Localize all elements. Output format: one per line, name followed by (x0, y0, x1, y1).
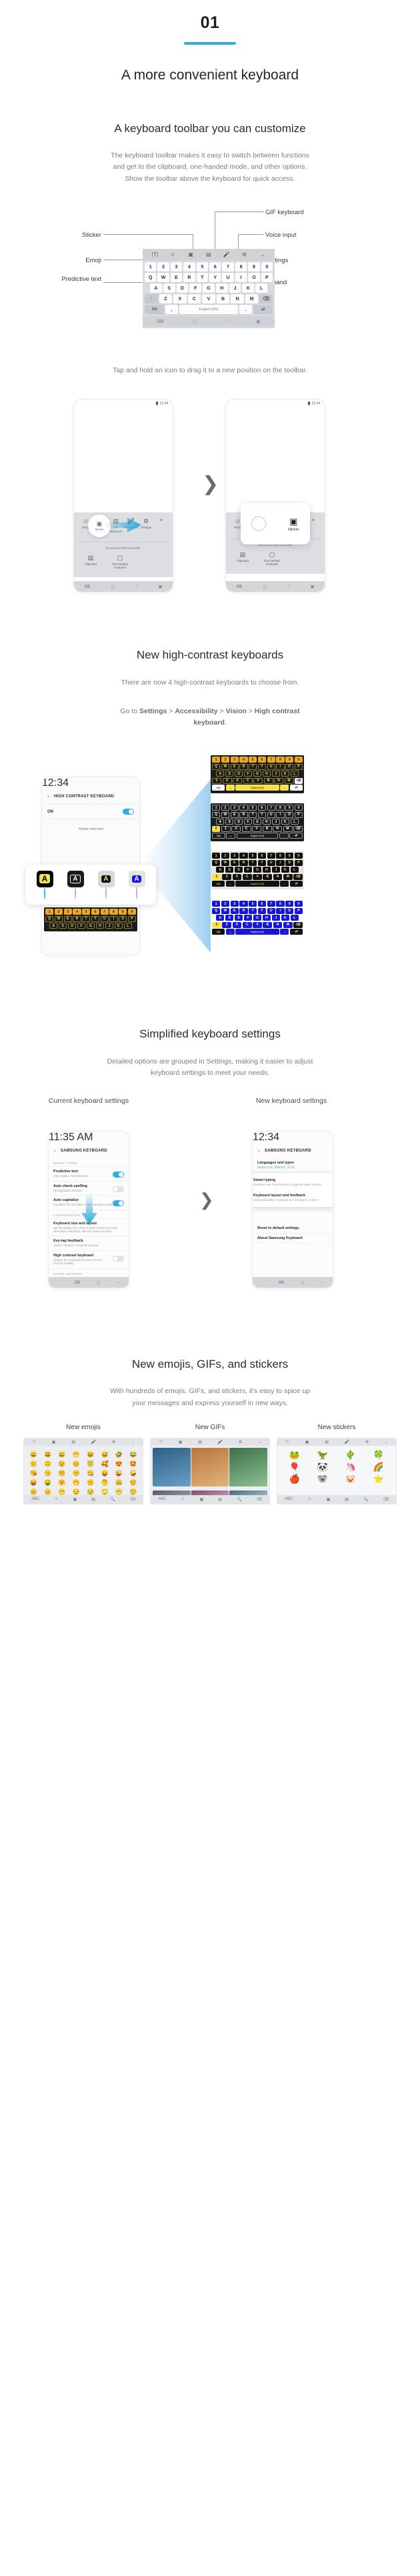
key[interactable]: B (263, 922, 272, 928)
period-key[interactable]: . (280, 785, 289, 791)
key[interactable]: 2 (221, 901, 229, 907)
key[interactable]: E (171, 273, 182, 282)
key[interactable]: 0 (295, 901, 303, 907)
emoji-cell[interactable]: 😂 (127, 1450, 140, 1459)
setting-row-high-contrast-keyboard[interactable]: High contrast keyboard Change the keyboa… (49, 1251, 129, 1269)
sticker-icon[interactable]: ▣ (305, 1440, 309, 1444)
abc-key[interactable]: ABC (285, 1497, 293, 1501)
back-icon[interactable]: ← (117, 1280, 121, 1284)
key[interactable]: G (253, 819, 261, 825)
key[interactable]: K (281, 915, 289, 921)
key[interactable]: W (221, 764, 229, 770)
key[interactable]: 9 (285, 853, 293, 859)
key[interactable]: 4 (73, 909, 81, 915)
high-contrast-toggle[interactable] (123, 809, 134, 815)
emoji-cell[interactable]: 😜 (112, 1469, 125, 1478)
emoji-cell[interactable]: 🤩 (127, 1460, 140, 1468)
setting-row-predictive-text[interactable]: Predictive text Auto replace, Text short… (49, 1167, 129, 1181)
space-key[interactable]: English (US) (235, 929, 279, 935)
key[interactable]: 9 (119, 909, 127, 915)
backspace-icon[interactable]: ⌫ (256, 1497, 261, 1502)
emoji-cell[interactable]: 🤨 (127, 1478, 140, 1487)
key[interactable]: S (163, 284, 175, 293)
key[interactable]: Z (222, 922, 231, 928)
swatch-white-on-blue[interactable]: A (129, 871, 145, 899)
key[interactable]: 9 (285, 805, 293, 811)
key[interactable]: T (249, 812, 257, 818)
home-icon[interactable]: ▢ (263, 584, 267, 589)
swatch-radio[interactable] (44, 887, 45, 899)
key[interactable]: Z (223, 778, 232, 784)
symbols-key[interactable]: !#1 (212, 785, 225, 791)
voice-input-icon[interactable]: 🎤 (222, 250, 231, 259)
key[interactable]: R (183, 273, 195, 282)
symbols-key[interactable]: !#1 (212, 833, 225, 839)
key[interactable]: I (276, 860, 284, 866)
predictive-text-icon[interactable]: (T) (151, 250, 159, 259)
setting-row-about-samsung-keyboard[interactable]: About Samsung Keyboard (253, 1234, 333, 1244)
space-key[interactable]: English (US) (237, 833, 279, 839)
expand-icon[interactable]: ⌄ (258, 1440, 261, 1444)
key[interactable]: L (291, 915, 299, 921)
setting-toggle[interactable] (113, 1256, 124, 1262)
key[interactable]: F (189, 284, 201, 293)
emoji-tab-icon[interactable]: ☺ (54, 1497, 58, 1501)
key[interactable]: 9 (285, 901, 293, 907)
key[interactable]: A (216, 867, 224, 873)
key[interactable]: T (82, 916, 90, 922)
key[interactable]: O (285, 908, 293, 914)
key[interactable]: I (276, 908, 284, 914)
key[interactable]: K (115, 923, 123, 929)
space-key[interactable]: English (US) (179, 305, 238, 314)
emoji-grid[interactable]: 😀 😃 😄 😁 😆 😅 🤣 😂 🙂 🙃 😉 😊 😇 🥰 😍 🤩 (24, 1446, 143, 1501)
key[interactable]: 4 (239, 757, 247, 763)
key[interactable]: S (225, 867, 233, 873)
key[interactable]: H (216, 284, 228, 293)
emoji-icon[interactable]: ☺ (285, 1440, 289, 1444)
period-key[interactable]: . (280, 929, 289, 935)
key[interactable]: E (231, 764, 239, 770)
key[interactable]: 5 (249, 757, 257, 763)
home-icon[interactable]: ▢ (111, 584, 115, 589)
sticker-cell[interactable]: 🐼 (309, 1462, 336, 1472)
tray-item-one-handed[interactable]: ▢ One-handed keyboard (110, 554, 130, 569)
key[interactable]: 7 (101, 909, 109, 915)
key[interactable]: Y (258, 764, 266, 770)
key[interactable]: 6 (258, 805, 266, 811)
key[interactable]: 6 (258, 757, 266, 763)
key[interactable]: J (105, 923, 113, 929)
toolbar-item-collapse[interactable]: ^ (153, 517, 169, 525)
sticker-tab-icon[interactable]: ▣ (200, 1497, 204, 1502)
key[interactable]: X (233, 922, 242, 928)
key[interactable]: 9 (285, 757, 293, 763)
key[interactable]: 7 (267, 757, 275, 763)
key[interactable]: N (274, 778, 283, 784)
key[interactable]: U (267, 764, 275, 770)
key[interactable]: J (272, 819, 280, 825)
gif-tab-icon[interactable]: ▤ (218, 1497, 222, 1502)
gif-icon[interactable]: ▤ (325, 1440, 329, 1444)
gif-tab-icon[interactable]: ▤ (91, 1497, 95, 1502)
key[interactable]: C (242, 826, 251, 832)
key[interactable]: T (249, 860, 257, 866)
shift-key[interactable]: ⇧ (145, 294, 158, 304)
key[interactable]: P (128, 916, 136, 922)
key[interactable]: 1 (212, 853, 220, 859)
key[interactable]: L (255, 284, 267, 293)
symbols-key[interactable]: !#1 (145, 305, 164, 314)
key[interactable]: 0 (261, 262, 273, 272)
enter-key[interactable]: ⏎ (290, 929, 303, 935)
key[interactable]: C (243, 922, 252, 928)
key[interactable]: F (244, 915, 252, 921)
emoji-cell[interactable]: 🤣 (112, 1450, 125, 1459)
emoji-cell[interactable]: 🤫 (84, 1478, 97, 1487)
emoji-icon[interactable]: ☺ (169, 250, 177, 259)
key[interactable]: 2 (157, 262, 169, 272)
key[interactable]: H (263, 867, 271, 873)
key[interactable]: K (281, 771, 289, 777)
period-key[interactable]: . (280, 881, 289, 887)
abc-key[interactable]: ABC (31, 1497, 39, 1501)
key[interactable]: K (281, 867, 289, 873)
emoji-cell[interactable]: 😃 (41, 1450, 54, 1459)
key[interactable]: F (244, 867, 252, 873)
emoji-cell[interactable]: 😋 (84, 1469, 97, 1478)
key[interactable]: U (267, 860, 275, 866)
key[interactable]: J (272, 915, 280, 921)
key[interactable]: 7 (222, 262, 233, 272)
key[interactable]: 8 (276, 805, 284, 811)
key[interactable]: Q (212, 812, 220, 818)
key[interactable]: A (216, 819, 224, 825)
key[interactable]: P (295, 812, 303, 818)
comma-key[interactable]: , (226, 929, 235, 935)
key[interactable]: O (285, 812, 293, 818)
key[interactable]: Z (159, 294, 173, 304)
key[interactable]: M (283, 922, 293, 928)
sticker-cell[interactable]: 🍀 (365, 1450, 392, 1460)
recents-icon[interactable]: ▣ (311, 584, 315, 589)
key[interactable]: P (295, 908, 303, 914)
key[interactable]: G (203, 284, 215, 293)
sticker-cell[interactable]: 🦄 (337, 1462, 364, 1472)
key[interactable]: O (285, 764, 293, 770)
emoji-cell[interactable]: 😉 (55, 1460, 69, 1468)
emoji-tab-icon[interactable]: ☺ (307, 1497, 311, 1501)
emoji-cell[interactable]: 🤪 (127, 1469, 140, 1478)
key[interactable]: V (202, 294, 215, 304)
key[interactable]: B (263, 874, 272, 880)
recents-icon[interactable]: ▣ (159, 584, 163, 589)
swatch-radio[interactable] (136, 887, 137, 899)
gif-strip[interactable] (151, 1446, 269, 1488)
key[interactable]: Q (145, 273, 156, 282)
backspace-icon[interactable]: ⌫ (129, 1497, 135, 1502)
sticker-icon[interactable]: ▣ (187, 250, 195, 259)
key[interactable]: 1 (45, 909, 53, 915)
key[interactable]: 8 (276, 757, 284, 763)
key[interactable]: X (233, 778, 242, 784)
key[interactable]: I (276, 812, 284, 818)
key[interactable]: U (267, 812, 275, 818)
key[interactable]: 8 (276, 853, 284, 859)
key[interactable]: F (244, 819, 252, 825)
search-icon[interactable]: 🔍 (237, 1497, 241, 1502)
key[interactable]: V (252, 826, 261, 832)
emoji-icon[interactable]: ☺ (32, 1440, 36, 1444)
key[interactable]: 8 (276, 901, 284, 907)
swatch-yellow-on-black[interactable]: A (37, 871, 53, 899)
emoji-cell[interactable]: 😄 (55, 1450, 69, 1459)
emoji-cell[interactable]: 😙 (69, 1469, 83, 1478)
key[interactable]: K (242, 284, 254, 293)
key[interactable]: R (239, 908, 247, 914)
key[interactable]: F (77, 923, 85, 929)
backspace-key[interactable]: ⌫ (293, 922, 303, 928)
key[interactable]: C (188, 294, 201, 304)
voice-input-icon[interactable]: 🎤 (345, 1440, 349, 1444)
emoji-cell[interactable]: 😅 (98, 1450, 111, 1459)
key[interactable]: Y (91, 916, 99, 922)
key[interactable]: O (119, 916, 127, 922)
comma-key[interactable]: , (226, 833, 235, 839)
key[interactable]: P (295, 860, 303, 866)
key[interactable]: 2 (221, 757, 229, 763)
key[interactable]: C (243, 778, 253, 784)
key[interactable]: E (231, 860, 239, 866)
key[interactable]: 4 (183, 262, 195, 272)
key[interactable]: 8 (109, 909, 117, 915)
hide-keyboard-icon[interactable]: ↓ (287, 584, 289, 588)
enter-key[interactable]: ⏎ (289, 833, 303, 839)
back-icon[interactable]: ‹ (54, 1148, 56, 1154)
key[interactable]: H (263, 771, 271, 777)
gif-icon[interactable]: ▤ (198, 1440, 202, 1444)
back-icon[interactable]: ‹ (258, 1148, 260, 1154)
key[interactable]: 1 (212, 901, 220, 907)
gif-thumbnail[interactable] (229, 1448, 267, 1486)
recents-icon[interactable]: ▣ (256, 319, 261, 324)
key[interactable]: 5 (197, 262, 208, 272)
key[interactable]: 0 (295, 853, 303, 859)
dot-icon[interactable]: · (261, 1280, 262, 1284)
key[interactable]: L (291, 819, 299, 825)
key[interactable]: J (229, 284, 241, 293)
key[interactable]: D (235, 771, 243, 777)
voice-input-icon[interactable]: 🎤 (91, 1440, 96, 1444)
key[interactable]: T (249, 908, 257, 914)
key[interactable]: N (273, 874, 283, 880)
space-key[interactable]: English (US) (235, 785, 279, 791)
space-key[interactable]: English (US) (235, 881, 279, 887)
emoji-cell[interactable]: 😀 (27, 1450, 40, 1459)
key[interactable]: R (73, 916, 81, 922)
emoji-cell[interactable]: 😁 (69, 1450, 83, 1459)
key[interactable]: R (239, 860, 247, 866)
sticker-cell[interactable]: 🦖 (309, 1450, 336, 1460)
key[interactable]: Q (212, 908, 220, 914)
backspace-key[interactable]: ⌫ (295, 778, 303, 784)
key[interactable]: G (253, 915, 261, 921)
key[interactable]: 3 (231, 853, 239, 859)
dot-icon[interactable]: · (57, 1280, 58, 1284)
emoji-cell[interactable]: 🥰 (98, 1460, 111, 1468)
settings-icon[interactable]: ⚙ (239, 1440, 242, 1444)
emoji-cell[interactable]: 😊 (69, 1460, 83, 1468)
emoji-cell[interactable]: 🤐 (112, 1478, 125, 1487)
home-icon[interactable]: ▢ (97, 1280, 101, 1285)
sticker-grid[interactable]: 🐸 🦖 🌵 🍀 🎈 🐼 🦄 🌈 🍎 🐨 🐷 ⭐ (277, 1446, 396, 1488)
key[interactable]: 2 (221, 805, 229, 811)
key[interactable]: Z (221, 826, 231, 832)
expand-icon[interactable]: ⌄ (131, 1440, 135, 1444)
sticker-icon[interactable]: ▣ (179, 1440, 183, 1444)
swatch-radio[interactable] (75, 887, 76, 899)
emoji-cell[interactable]: 😘 (27, 1469, 40, 1478)
key[interactable]: D (235, 867, 243, 873)
setting-row-key-tap-feedback[interactable]: Key-tap feedback Sound, Vibration, Chara… (49, 1236, 129, 1250)
voice-input-icon[interactable]: 🎤 (218, 1440, 223, 1444)
key[interactable]: 4 (239, 901, 247, 907)
key[interactable]: 0 (295, 805, 303, 811)
key[interactable]: L (291, 771, 299, 777)
key[interactable]: M (283, 874, 293, 880)
swatch-yellow-light-frame[interactable]: A (98, 871, 115, 899)
sticker-cell[interactable]: 🌈 (365, 1462, 392, 1472)
key[interactable]: O (285, 860, 293, 866)
keyboard-switch-icon[interactable]: ⌨ (157, 319, 163, 324)
sticker-cell[interactable]: 🐷 (337, 1474, 364, 1484)
key[interactable]: R (239, 812, 247, 818)
shift-key[interactable]: ⇧ (212, 826, 220, 832)
key[interactable]: S (225, 915, 233, 921)
key[interactable]: G (87, 923, 95, 929)
backspace-key[interactable]: ⌫ (293, 826, 303, 832)
key[interactable]: J (272, 867, 280, 873)
key[interactable]: 6 (91, 909, 99, 915)
backspace-icon[interactable]: ⌫ (383, 1497, 388, 1502)
emoji-cell[interactable]: 😇 (84, 1460, 97, 1468)
key[interactable]: U (101, 916, 109, 922)
key[interactable]: S (225, 771, 233, 777)
key[interactable]: S (59, 923, 67, 929)
enter-key[interactable]: ⏎ (253, 305, 273, 314)
key[interactable]: Y (209, 273, 221, 282)
back-icon[interactable]: ← (321, 1280, 325, 1284)
keyboard-switch-icon[interactable]: ⌨ (75, 1280, 81, 1285)
key[interactable]: D (235, 819, 243, 825)
sticker-icon[interactable]: ▣ (52, 1440, 56, 1444)
expand-icon[interactable]: ⌄ (258, 250, 267, 259)
key[interactable]: V (253, 874, 262, 880)
key[interactable]: 1 (212, 757, 220, 763)
setting-row-keyboard-layout-feedback[interactable]: Keyboard layout and feedback Keyboard to… (252, 1190, 333, 1205)
emoji-cell[interactable]: 😝 (27, 1478, 40, 1487)
backspace-key[interactable]: ⌫ (293, 874, 303, 880)
sticker-cell[interactable]: 🌵 (337, 1450, 364, 1460)
key[interactable]: W (221, 812, 229, 818)
key[interactable]: V (253, 922, 262, 928)
settings-icon[interactable]: ⚙ (365, 1440, 369, 1444)
key[interactable]: M (285, 778, 294, 784)
hide-keyboard-icon[interactable]: ↓ (135, 584, 137, 588)
key[interactable]: B (263, 826, 272, 832)
key[interactable]: N (231, 294, 244, 304)
key[interactable]: Y (258, 812, 266, 818)
key[interactable]: 8 (235, 262, 247, 272)
emoji-cell[interactable]: 🤑 (41, 1478, 54, 1487)
home-icon[interactable]: ▢ (192, 319, 197, 324)
setting-toggle[interactable] (113, 1200, 124, 1206)
key[interactable]: 9 (248, 262, 259, 272)
abc-key[interactable]: ABC (158, 1497, 166, 1501)
emoji-icon[interactable]: ☺ (159, 1440, 163, 1444)
key[interactable]: 6 (258, 901, 266, 907)
key[interactable]: W (55, 916, 63, 922)
key[interactable]: S (225, 819, 233, 825)
sticker-cell[interactable]: 🎈 (281, 1462, 308, 1472)
key[interactable]: I (109, 916, 117, 922)
key[interactable]: T (197, 273, 208, 282)
shift-key[interactable]: ⇧ (212, 778, 221, 784)
sticker-cell[interactable]: 🐨 (309, 1474, 336, 1484)
key[interactable]: X (173, 294, 187, 304)
key[interactable]: B (264, 778, 273, 784)
symbols-key[interactable]: !#1 (212, 929, 225, 935)
key[interactable]: E (231, 908, 239, 914)
key[interactable]: 0 (295, 757, 303, 763)
key[interactable]: A (49, 923, 57, 929)
key[interactable]: 3 (64, 909, 72, 915)
key[interactable]: V (253, 778, 263, 784)
key[interactable]: A (150, 284, 162, 293)
key[interactable]: R (239, 764, 247, 770)
key[interactable]: 1 (145, 262, 156, 272)
key[interactable]: 4 (239, 805, 247, 811)
swatch-white-on-black[interactable]: A (67, 871, 84, 899)
symbols-key[interactable]: !#1 (212, 881, 225, 887)
key[interactable]: X (231, 826, 241, 832)
tray-item-clipboard[interactable]: ▤ Clipboard (82, 554, 99, 569)
enter-key[interactable]: ⏎ (290, 785, 303, 791)
comma-key[interactable]: , (226, 785, 235, 791)
swatch-radio[interactable] (105, 887, 107, 899)
sticker-tab-icon[interactable]: ▣ (327, 1497, 331, 1502)
setting-toggle[interactable] (113, 1172, 124, 1178)
key[interactable]: 3 (231, 805, 239, 811)
emoji-tab-icon[interactable]: ☺ (181, 1497, 185, 1501)
enter-key[interactable]: ⏎ (290, 881, 303, 887)
keyboard-switch-icon[interactable]: ⌨ (279, 1280, 285, 1285)
expand-icon[interactable]: ⌄ (385, 1440, 388, 1444)
key[interactable]: D (68, 923, 76, 929)
shift-key[interactable]: ⇧ (212, 922, 221, 928)
search-icon[interactable]: 🔍 (110, 1497, 115, 1502)
key[interactable]: 3 (171, 262, 182, 272)
key[interactable]: A (216, 771, 224, 777)
key[interactable]: 3 (231, 901, 239, 907)
gif-thumbnail[interactable] (191, 1448, 229, 1486)
emoji-cell[interactable]: 😗 (41, 1469, 54, 1478)
setting-row-reset-defaults[interactable]: Reset to default settings (253, 1224, 333, 1234)
key[interactable]: 6 (209, 262, 221, 272)
key[interactable]: N (273, 826, 282, 832)
key[interactable]: 7 (267, 901, 275, 907)
tray-item-clipboard[interactable]: ▤ Clipboard (234, 550, 251, 566)
